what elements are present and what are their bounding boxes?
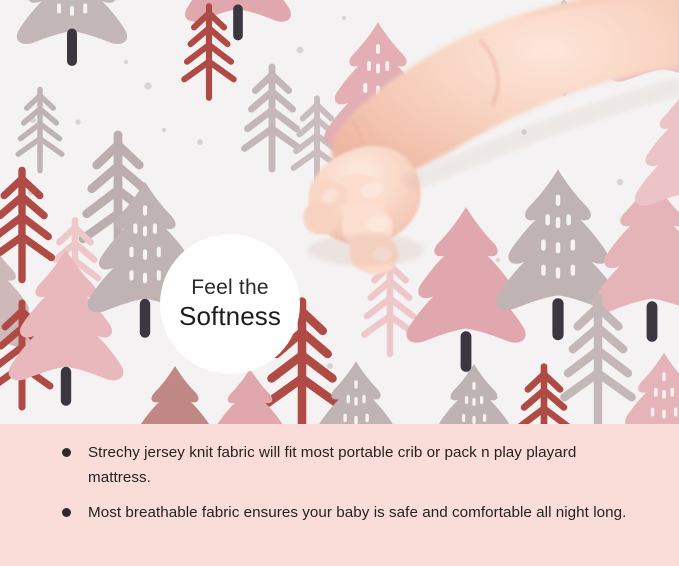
product-feature-image: Feel the Softness Strechy jersey knit fa…: [0, 0, 679, 566]
feature-band: Strechy jersey knit fabric will fit most…: [0, 424, 679, 566]
feature-list: Strechy jersey knit fabric will fit most…: [0, 424, 679, 525]
baby-arm-and-hand-photo: [0, 0, 679, 424]
list-item: Most breathable fabric ensures your baby…: [62, 500, 635, 525]
list-item: Strechy jersey knit fabric will fit most…: [62, 440, 635, 490]
feature-text: Strechy jersey knit fabric will fit most…: [88, 444, 576, 486]
feature-text: Most breathable fabric ensures your baby…: [88, 504, 626, 521]
feel-the-softness-badge: Feel the Softness: [160, 234, 300, 374]
badge-line-2: Softness: [179, 302, 281, 332]
hero-section: Feel the Softness: [0, 0, 679, 424]
bullet-icon: [62, 508, 71, 517]
badge-line-1: Feel the: [191, 276, 268, 300]
bullet-icon: [62, 448, 71, 457]
